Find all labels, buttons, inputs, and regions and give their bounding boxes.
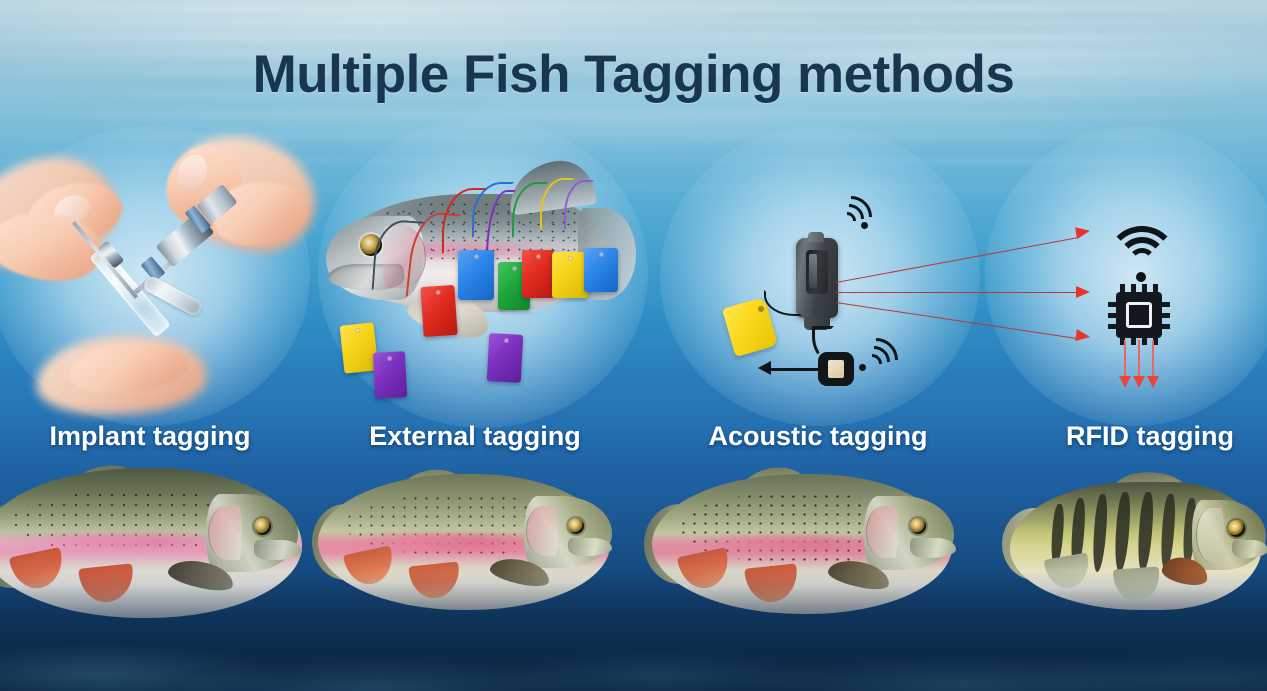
page-title: Multiple Fish Tagging methods — [0, 44, 1267, 105]
rfid-wifi-dot — [1136, 272, 1146, 282]
fish4-eye — [1228, 520, 1245, 537]
direction-arrow-line — [768, 368, 820, 371]
acoustic-tag-hole — [758, 306, 764, 312]
rfid-down-arrow-head-1 — [1119, 376, 1131, 388]
external-tag-blue-upper — [458, 250, 494, 300]
fish1-gill — [208, 506, 242, 560]
rfid-down-arrow-line-3 — [1152, 340, 1154, 378]
fish-yellow-perch — [1010, 482, 1262, 610]
fish2-gill — [526, 506, 558, 556]
receiver-window-highlight — [809, 254, 817, 288]
external-tag-purple-low — [373, 351, 407, 399]
fish-rainbow-trout-spotted — [652, 474, 952, 614]
chip-pin-right-1 — [1161, 302, 1170, 307]
external-tag-red-mid — [420, 285, 457, 337]
fish3-gill — [866, 506, 898, 558]
signal-arrow-line-down — [836, 302, 1079, 339]
signal-arrow-head-mid — [1076, 286, 1090, 298]
rfid-down-arrow-head-2 — [1133, 376, 1145, 388]
chip-pin-right-3 — [1161, 324, 1170, 329]
fish4-mouth — [1232, 540, 1267, 558]
rfid-down-arrow-line-2 — [1138, 340, 1140, 378]
fish3-mouth — [910, 538, 956, 558]
acoustic-signal-arrows — [836, 220, 1106, 340]
panel-implant-tagging — [0, 130, 310, 420]
rfid-microchip-core — [1126, 302, 1152, 328]
tag-cable — [764, 290, 802, 316]
fish1-mouth — [254, 540, 302, 560]
signal-arrow-head-up — [1075, 225, 1091, 239]
label-external-tagging: External tagging — [325, 421, 625, 452]
label-implant-tagging: Implant tagging — [0, 421, 300, 452]
external-tag-red-upper — [522, 250, 554, 298]
chip-pin-right-2 — [1161, 313, 1170, 318]
receiver-cap — [808, 232, 824, 242]
external-tag-yellow-up — [552, 252, 588, 298]
panel-rfid-tagging — [1098, 218, 1218, 388]
external-tag-purple-mid — [487, 333, 523, 383]
fish1-eye — [254, 518, 271, 535]
fish2-eye — [568, 518, 584, 534]
fish-rainbow-trout-large — [0, 468, 302, 618]
label-acoustic-tagging: Acoustic tagging — [668, 421, 968, 452]
rfid-down-arrow-line-1 — [1124, 340, 1126, 378]
fish4-gill — [1196, 508, 1224, 562]
label-rfid-tagging: RFID tagging — [1000, 421, 1267, 452]
signal-arrow-line-mid — [836, 292, 1082, 293]
external-tag-blue-right — [584, 248, 618, 292]
infographic-poster: Multiple Fish Tagging methods — [0, 0, 1267, 691]
signal-arrow-head-down — [1075, 329, 1091, 343]
signal-arrow-line-up — [836, 237, 1078, 283]
rfid-down-arrow-head-3 — [1147, 376, 1159, 388]
fish-rainbow-trout-medium — [318, 474, 610, 610]
hydrophone-sensor-face — [828, 360, 844, 378]
fish2-mouth — [568, 538, 612, 556]
fish3-eye — [910, 518, 926, 534]
panel-external-tagging — [326, 168, 626, 414]
direction-arrow-head — [758, 361, 771, 375]
